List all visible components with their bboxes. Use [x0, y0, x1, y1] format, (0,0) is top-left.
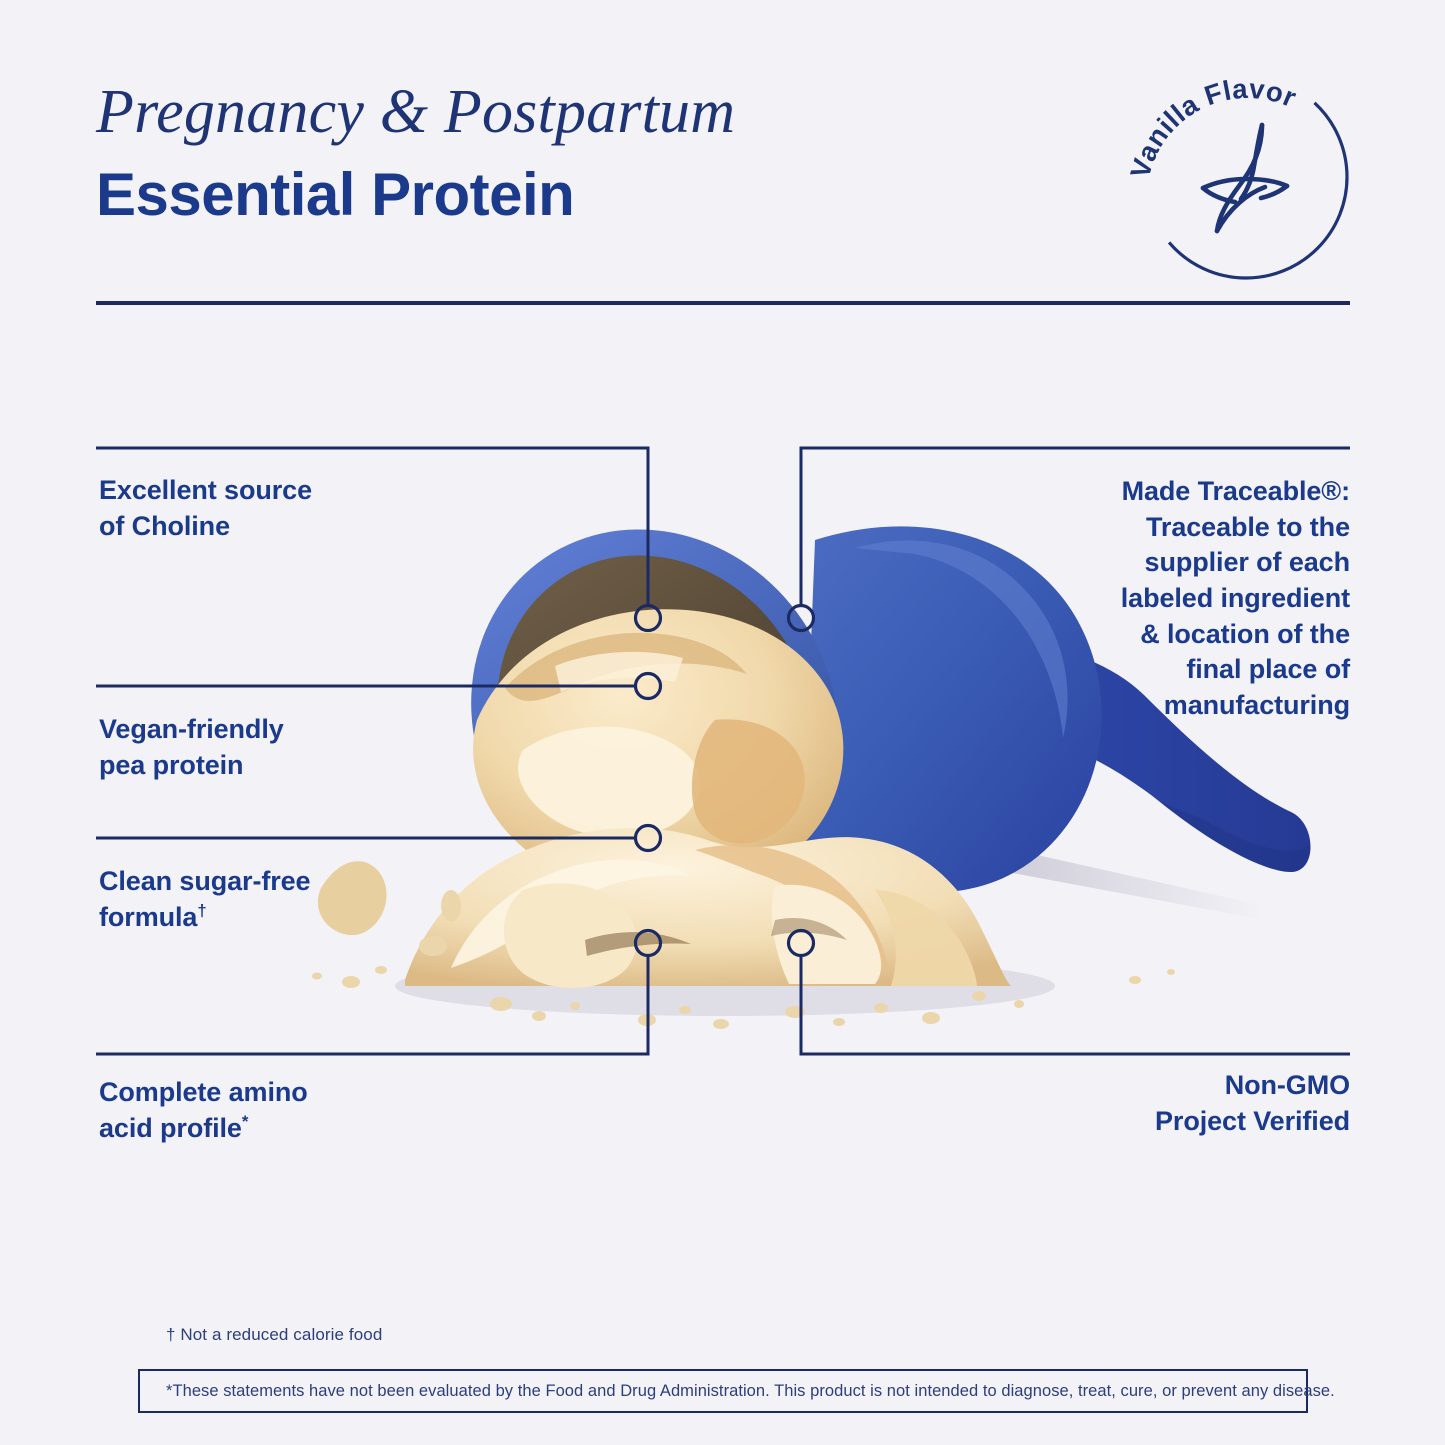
disclaimer-box: *These statements have not been evaluate… [138, 1369, 1308, 1413]
vanilla-bean-icon [1203, 125, 1287, 231]
infographic-canvas: Pregnancy & Postpartum Essential Protein… [0, 0, 1445, 1445]
callout-traceable-line6: final place of [1020, 652, 1350, 688]
callout-vegan-line2: pea protein [99, 748, 429, 784]
callout-vegan-line1: Vegan-friendly [99, 712, 429, 748]
callout-choline-line1: Excellent source [99, 473, 429, 509]
callout-traceable-line7: manufacturing [1020, 688, 1350, 724]
callout-sugar-free: Clean sugar-free formula† [99, 864, 429, 935]
callout-choline: Excellent source of Choline [99, 473, 429, 544]
callout-non-gmo: Non-GMO Project Verified [1020, 1068, 1350, 1139]
callout-amino-line2: acid profile* [99, 1111, 429, 1147]
callout-amino-acid: Complete amino acid profile* [99, 1075, 429, 1146]
callout-amino-line1: Complete amino [99, 1075, 429, 1111]
callout-traceable-line5: & location of the [1020, 617, 1350, 653]
callout-non-gmo-line1: Non-GMO [1020, 1068, 1350, 1104]
callout-traceable-line4: labeled ingredient [1020, 581, 1350, 617]
footnote-dagger: † Not a reduced calorie food [166, 1325, 382, 1345]
disclaimer-text: *These statements have not been evaluate… [140, 1382, 1335, 1401]
callout-vegan: Vegan-friendly pea protein [99, 712, 429, 783]
callout-traceable-line3: supplier of each [1020, 545, 1350, 581]
callout-made-traceable: Made Traceable®: Traceable to the suppli… [1020, 474, 1350, 723]
header-divider [96, 301, 1350, 305]
callout-sugar-line2-text: formula [99, 902, 197, 932]
callout-amino-marker: * [242, 1112, 248, 1131]
callout-choline-line2: of Choline [99, 509, 429, 545]
callout-non-gmo-line2: Project Verified [1020, 1104, 1350, 1140]
callout-sugar-marker: † [197, 901, 206, 920]
callout-sugar-line2: formula† [99, 900, 429, 936]
badge-curved-text: Vanilla Flavor [1124, 73, 1301, 182]
callout-sugar-line1: Clean sugar-free [99, 864, 429, 900]
callout-traceable-line2: Traceable to the [1020, 510, 1350, 546]
flavor-badge: Vanilla Flavor [1131, 62, 1361, 292]
callout-traceable-line1: Made Traceable®: [1020, 474, 1350, 510]
callout-amino-line2-text: acid profile [99, 1113, 242, 1143]
